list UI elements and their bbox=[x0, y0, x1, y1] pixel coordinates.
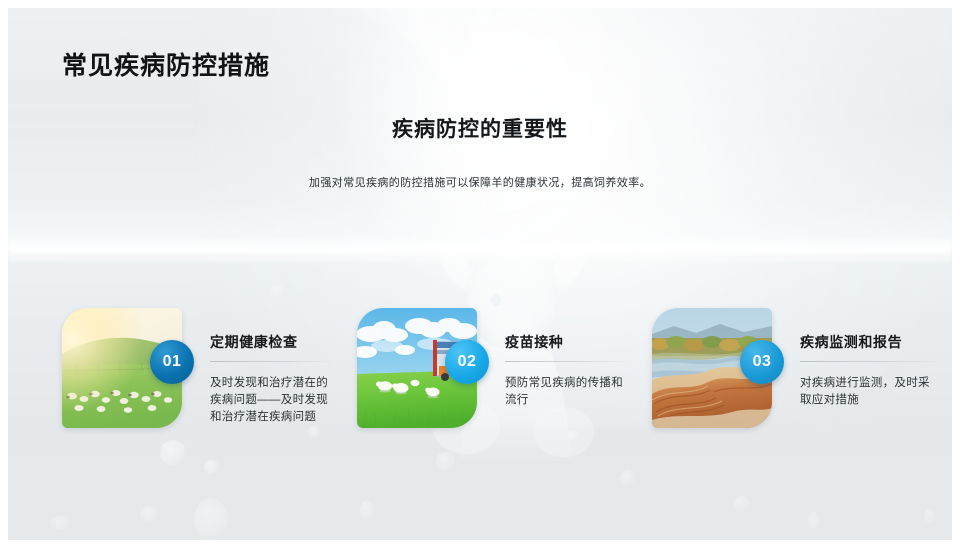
card-body: 定期健康检查 及时发现和治疗潜在的疾病问题——及时发现和治疗潜在疾病问题 bbox=[210, 300, 330, 426]
card-title: 定期健康检查 bbox=[210, 300, 330, 352]
card-number: 01 bbox=[163, 353, 182, 371]
card-number: 03 bbox=[753, 353, 772, 371]
page-title: 常见疾病防控措施 bbox=[62, 46, 270, 82]
measure-cards-row: 01 定期健康检查 及时发现和治疗潜在的疾病问题——及时发现和治疗潜在疾病问题 bbox=[0, 300, 960, 470]
measure-card[interactable]: 03 疾病监测和报告 对疾病进行监测，及时采取应对措施 bbox=[652, 300, 937, 470]
card-description: 对疾病进行监测，及时采取应对措施 bbox=[800, 375, 937, 409]
card-divider bbox=[505, 361, 625, 362]
card-body: 疫苗接种 预防常见疾病的传播和流行 bbox=[505, 300, 625, 409]
card-number-badge: 01 bbox=[150, 340, 194, 384]
section-heading: 疾病防控的重要性 bbox=[0, 113, 960, 143]
card-title: 疾病监测和报告 bbox=[800, 300, 937, 352]
card-number-badge: 02 bbox=[445, 340, 489, 384]
section-description: 加强对常见疾病的防控措施可以保障羊的健康状况，提高饲养效率。 bbox=[0, 174, 960, 190]
horizon-light-band bbox=[8, 236, 952, 264]
measure-card[interactable]: 01 定期健康检查 及时发现和治疗潜在的疾病问题——及时发现和治疗潜在疾病问题 bbox=[62, 300, 330, 470]
card-number-badge: 03 bbox=[740, 340, 784, 384]
slide-canvas: 常见疾病防控措施 疾病防控的重要性 加强对常见疾病的防控措施可以保障羊的健康状况… bbox=[0, 0, 960, 548]
card-body: 疾病监测和报告 对疾病进行监测，及时采取应对措施 bbox=[800, 300, 937, 409]
card-description: 及时发现和治疗潜在的疾病问题——及时发现和治疗潜在疾病问题 bbox=[210, 375, 330, 426]
card-title: 疫苗接种 bbox=[505, 300, 625, 352]
measure-card[interactable]: 02 疫苗接种 预防常见疾病的传播和流行 bbox=[357, 300, 625, 470]
card-divider bbox=[210, 361, 330, 362]
card-number: 02 bbox=[458, 353, 477, 371]
card-description: 预防常见疾病的传播和流行 bbox=[505, 375, 625, 409]
card-divider bbox=[800, 361, 937, 362]
